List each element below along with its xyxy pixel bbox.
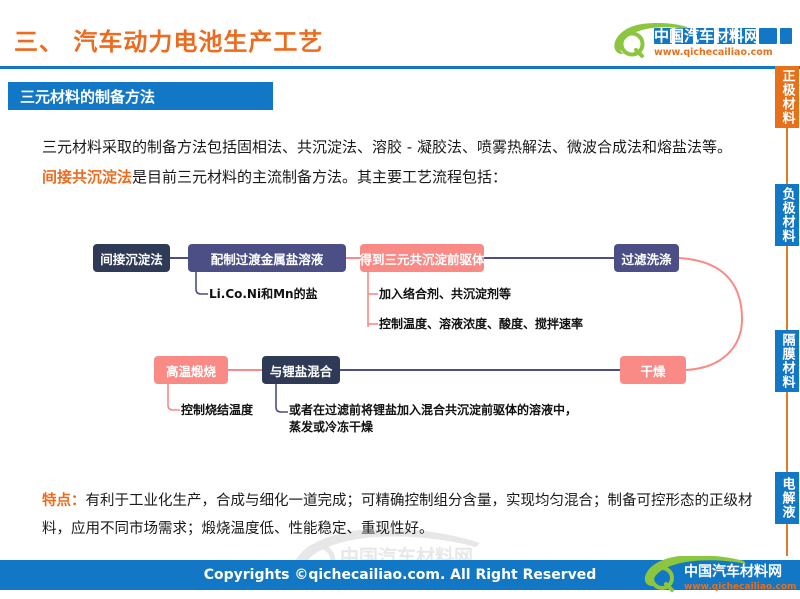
- flow-node-label: 干燥: [640, 361, 665, 380]
- intro-part1: 三元材料采取的制备方法包括固相法、共沉淀法、溶胶 - 凝胶法、喷雾热解法、微波合…: [42, 138, 732, 156]
- flow-node-label: 间接沉淀法: [100, 249, 163, 268]
- intro-part2: 是目前三元材料的主流制备方法。其主要工艺流程包括：: [132, 168, 507, 186]
- annotation-salts: Li.Co.Ni和Mn的盐: [209, 286, 318, 303]
- sidebar-item-electrolyte[interactable]: 电解液: [775, 472, 799, 524]
- annotation-alt-route-line1: 或者在过滤前将锂盐加入混合共沉淀前驱体的溶液中，: [289, 402, 577, 419]
- flow-node-filter-wash[interactable]: 过滤洗涤: [614, 244, 679, 272]
- sidebar-item-anode-material[interactable]: 负极材料: [775, 184, 799, 246]
- flow-node-drying[interactable]: 干燥: [620, 356, 686, 384]
- intro-highlight: 间接共沉淀法: [42, 168, 132, 186]
- section-title-bar: 三元材料的制备方法: [8, 82, 273, 110]
- sidebar-item-label: 正极材料: [778, 69, 797, 125]
- feature-label: 特点: [42, 493, 71, 509]
- svg-text:中国汽车材料网: 中国汽车材料网: [684, 563, 782, 580]
- annotation-sintering-temp: 控制烧结温度: [181, 402, 253, 419]
- logo-url-text: www.qichecailiao.com: [654, 47, 773, 58]
- header-divider: [0, 66, 800, 69]
- flow-node-indirect-precipitation[interactable]: 间接沉淀法: [93, 244, 170, 272]
- brand-logo: 中国汽车材料网 www.qichecailiao.com: [612, 20, 794, 62]
- annotation-alt-route-line2: 蒸发或冷冻干燥: [289, 419, 373, 436]
- sidebar-item-label: 电解液: [778, 477, 797, 519]
- section-title-text: 三元材料的制备方法: [20, 86, 155, 107]
- footer-logo: 中国汽车材料网 www.qichecailiao.com: [640, 556, 800, 596]
- sidebar-item-cathode-material[interactable]: 正极材料: [775, 66, 799, 128]
- flow-node-label: 高温煅烧: [166, 361, 216, 380]
- flow-node-high-temp-calcination[interactable]: 高温煅烧: [154, 356, 228, 384]
- sidebar-item-label: 隔膜材料: [778, 333, 797, 389]
- flow-node-obtain-precursor[interactable]: 得到三元共沉淀前驱体: [360, 244, 484, 272]
- feature-separator: ：: [71, 493, 86, 509]
- intro-paragraph: 三元材料采取的制备方法包括固相法、共沉淀法、溶胶 - 凝胶法、喷雾热解法、微波合…: [42, 132, 742, 192]
- feature-text: 有利于工业化生产，合成与细化一道完成；可精确控制组分含量，实现均匀混合；制备可控…: [42, 493, 753, 537]
- slide-canvas: 三、 汽车动力电池生产工艺 中国汽车材料网 www.qichecailiao.c…: [0, 0, 800, 599]
- flow-node-label: 得到三元共沉淀前驱体: [360, 249, 485, 268]
- annotation-complexing-agent: 加入络合剂、共沉淀剂等: [379, 286, 511, 303]
- logo-cn-text: 中国汽车材料网: [654, 27, 759, 45]
- flow-node-prepare-metal-salt-solution[interactable]: 配制过渡金属盐溶液: [188, 244, 346, 272]
- annotation-process-control: 控制温度、溶液浓度、酸度、搅拌速率: [379, 316, 583, 333]
- flow-node-label: 配制过渡金属盐溶液: [211, 249, 324, 268]
- process-flow-diagram: 中国汽车材料网 www.qichecailiao.com: [0, 225, 770, 465]
- flow-node-label: 与锂盐混合: [270, 361, 333, 380]
- feature-paragraph: 特点：有利于工业化生产，合成与细化一道完成；可精确控制组分含量，实现均匀混合；制…: [42, 487, 754, 543]
- page-title: 三、 汽车动力电池生产工艺: [14, 22, 323, 57]
- flow-node-mix-with-lithium-salt[interactable]: 与锂盐混合: [262, 356, 340, 384]
- sidebar-item-separator-material[interactable]: 隔膜材料: [775, 330, 799, 392]
- flow-node-label: 过滤洗涤: [622, 249, 672, 268]
- sidebar-item-label: 负极材料: [778, 187, 797, 243]
- svg-text:www.qichecailiao.com: www.qichecailiao.com: [684, 582, 796, 592]
